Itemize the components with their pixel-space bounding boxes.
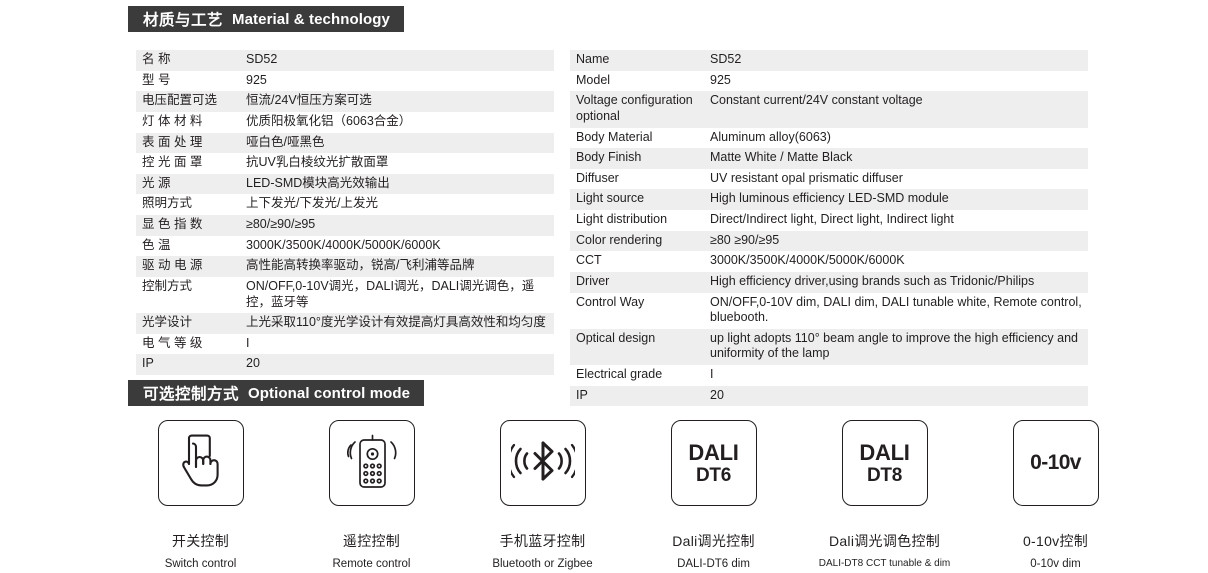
- table-row: 驱 动 电 源 高性能高转换率驱动，锐高/飞利浦等品牌: [136, 256, 554, 277]
- dali-line-1: DALI: [859, 442, 909, 464]
- icon-box: [500, 420, 586, 506]
- spec-value: UV resistant opal prismatic diffuser: [704, 169, 1088, 190]
- dali-dt8-text-icon: DALI DT8: [859, 442, 909, 485]
- spec-value: 925: [240, 71, 554, 92]
- heading-title-en: Material & technology: [232, 11, 390, 28]
- table-row: Light source High luminous efficiency LE…: [570, 189, 1088, 210]
- table-row: Color rendering ≥80 ≥90/≥95: [570, 231, 1088, 252]
- section-heading-material: 材质与工艺 Material & technology: [128, 6, 404, 32]
- spec-value: Matte White / Matte Black: [704, 148, 1088, 169]
- heading-title-cn: 材质与工艺: [143, 8, 223, 30]
- section-heading-control-mode: 可选控制方式 Optional control mode: [128, 380, 424, 406]
- spec-key: 名 称: [136, 50, 240, 71]
- spec-value: I: [704, 365, 1088, 386]
- spec-value: 高性能高转换率驱动，锐高/飞利浦等品牌: [240, 256, 554, 277]
- control-mode-label-cn: 开关控制: [172, 531, 229, 551]
- spec-key: Name: [570, 50, 704, 71]
- spec-key: Body Material: [570, 128, 704, 149]
- spec-key: 型 号: [136, 71, 240, 92]
- spec-key: IP: [136, 354, 240, 375]
- dali-line-1: DALI: [688, 442, 738, 464]
- spec-key: 电 气 等 级: [136, 334, 240, 355]
- table-row: Model 925: [570, 71, 1088, 92]
- spec-key: 表 面 处 理: [136, 133, 240, 154]
- spec-value: High luminous efficiency LED-SMD module: [704, 189, 1088, 210]
- spec-key: 控制方式: [136, 277, 240, 313]
- hand-touch-icon: [177, 434, 225, 493]
- table-row: 表 面 处 理 哑白色/哑黑色: [136, 133, 554, 154]
- heading-body: 可选控制方式 Optional control mode: [133, 380, 424, 406]
- spec-value: 20: [240, 354, 554, 375]
- table-row: 控 光 面 罩 抗UV乳白棱纹光扩散面罩: [136, 153, 554, 174]
- spec-key: 电压配置可选: [136, 91, 240, 112]
- dali-dt6-text-icon: DALI DT6: [688, 442, 738, 485]
- table-row: Driver High efficiency driver,using bran…: [570, 272, 1088, 293]
- dali-line-2: DT8: [859, 466, 909, 485]
- spec-value: I: [240, 334, 554, 355]
- table-row: CCT 3000K/3500K/4000K/5000K/6000K: [570, 251, 1088, 272]
- spec-key: 色 温: [136, 236, 240, 257]
- table-row: 光学设计 上光采取110°度光学设计有效提高灯具高效性和均匀度: [136, 313, 554, 334]
- control-mode-label-cn: 手机蓝牙控制: [500, 531, 586, 551]
- spec-key: 显 色 指 数: [136, 215, 240, 236]
- control-mode-label-cn: 遥控控制: [343, 531, 400, 551]
- spec-value: ≥80/≥90/≥95: [240, 215, 554, 236]
- spec-value: 哑白色/哑黑色: [240, 133, 554, 154]
- control-mode-label-en: 0-10v dim: [1030, 558, 1081, 570]
- control-mode-dali-dt8: DALI DT8 Dali调光调色控制 DALI-DT8 CCT tunable…: [812, 420, 957, 570]
- control-mode-label-en: DALI-DT6 dim: [677, 558, 750, 570]
- table-row: Voltage configuration optional Constant …: [570, 91, 1088, 127]
- spec-key: 光学设计: [136, 313, 240, 334]
- table-row: 控制方式 ON/OFF,0-10V调光，DALI调光，DALI调光调色，遥控，蓝…: [136, 277, 554, 313]
- spec-key: Voltage configuration optional: [570, 91, 704, 127]
- spec-value: Direct/Indirect light, Direct light, Ind…: [704, 210, 1088, 231]
- spec-value: SD52: [240, 50, 554, 71]
- spec-value: 3000K/3500K/4000K/5000K/6000K: [240, 236, 554, 257]
- zero-to-ten-volt-text-icon: 0-10v: [1030, 451, 1081, 475]
- icon-box: DALI DT6: [671, 420, 757, 506]
- spec-value: Constant current/24V constant voltage: [704, 91, 1088, 127]
- table-row: Body Material Aluminum alloy(6063): [570, 128, 1088, 149]
- control-mode-bluetooth: 手机蓝牙控制 Bluetooth or Zigbee: [470, 420, 615, 570]
- heading-body: 材质与工艺 Material & technology: [133, 6, 404, 32]
- spec-key: Diffuser: [570, 169, 704, 190]
- spec-value: ON/OFF,0-10V调光，DALI调光，DALI调光调色，遥控，蓝牙等: [240, 277, 554, 313]
- spec-key: Light distribution: [570, 210, 704, 231]
- control-mode-dali-dt6: DALI DT6 Dali调光控制 DALI-DT6 dim: [641, 420, 786, 570]
- control-mode-label-cn: 0-10v控制: [1023, 531, 1088, 551]
- table-row: 照明方式 上下发光/下发光/上发光: [136, 194, 554, 215]
- spec-value: 抗UV乳白棱纹光扩散面罩: [240, 153, 554, 174]
- table-row: Body Finish Matte White / Matte Black: [570, 148, 1088, 169]
- spec-key: Optical design: [570, 329, 704, 365]
- table-row: 光 源 LED-SMD模块高光效输出: [136, 174, 554, 195]
- spec-value: High efficiency driver,using brands such…: [704, 272, 1088, 293]
- spec-value: ON/OFF,0-10V dim, DALI dim, DALI tunable…: [704, 293, 1088, 329]
- control-mode-label-en: Bluetooth or Zigbee: [492, 558, 592, 570]
- spec-key: Light source: [570, 189, 704, 210]
- table-row: Control Way ON/OFF,0-10V dim, DALI dim, …: [570, 293, 1088, 329]
- table-row: IP 20: [570, 386, 1088, 407]
- table-row: Name SD52: [570, 50, 1088, 71]
- table-row: Light distribution Direct/Indirect light…: [570, 210, 1088, 231]
- spec-key: 灯 体 材 料: [136, 112, 240, 133]
- table-row: 名 称 SD52: [136, 50, 554, 71]
- table-row: 电 气 等 级 I: [136, 334, 554, 355]
- bluetooth-wireless-icon: [511, 438, 575, 489]
- spec-key: IP: [570, 386, 704, 407]
- control-mode-label-cn: Dali调光控制: [672, 531, 755, 551]
- control-mode-label-en: Switch control: [165, 558, 237, 570]
- spec-value: 上光采取110°度光学设计有效提高灯具高效性和均匀度: [240, 313, 554, 334]
- dali-line-2: DT6: [688, 466, 738, 485]
- table-row: 显 色 指 数 ≥80/≥90/≥95: [136, 215, 554, 236]
- spec-key: Model: [570, 71, 704, 92]
- spec-table-cn: 名 称 SD52 型 号 925 电压配置可选 恒流/24V恒压方案可选 灯 体…: [136, 50, 554, 375]
- table-row: 灯 体 材 料 优质阳极氧化铝（6063合金）: [136, 112, 554, 133]
- spec-key: 光 源: [136, 174, 240, 195]
- table-row: 电压配置可选 恒流/24V恒压方案可选: [136, 91, 554, 112]
- remote-control-icon: [346, 433, 398, 494]
- spec-key: Color rendering: [570, 231, 704, 252]
- spec-value: 恒流/24V恒压方案可选: [240, 91, 554, 112]
- heading-title-cn: 可选控制方式: [143, 382, 239, 404]
- table-row: 型 号 925: [136, 71, 554, 92]
- spec-value: SD52: [704, 50, 1088, 71]
- spec-value: 上下发光/下发光/上发光: [240, 194, 554, 215]
- spec-value: 3000K/3500K/4000K/5000K/6000K: [704, 251, 1088, 272]
- spec-value: Aluminum alloy(6063): [704, 128, 1088, 149]
- table-row: 色 温 3000K/3500K/4000K/5000K/6000K: [136, 236, 554, 257]
- icon-box: 0-10v: [1013, 420, 1099, 506]
- spec-value: 20: [704, 386, 1088, 407]
- spec-key: Control Way: [570, 293, 704, 329]
- table-row: IP 20: [136, 354, 554, 375]
- spec-table-en: Name SD52 Model 925 Voltage configuratio…: [570, 50, 1088, 406]
- control-mode-remote: 遥控控制 Remote control: [299, 420, 444, 570]
- spec-key: 照明方式: [136, 194, 240, 215]
- spec-value: 925: [704, 71, 1088, 92]
- spec-key: 控 光 面 罩: [136, 153, 240, 174]
- icon-box: DALI DT8: [842, 420, 928, 506]
- spec-key: Body Finish: [570, 148, 704, 169]
- spec-value: 优质阳极氧化铝（6063合金）: [240, 112, 554, 133]
- spec-value: up light adopts 110° beam angle to impro…: [704, 329, 1088, 365]
- table-row: Electrical grade I: [570, 365, 1088, 386]
- control-mode-switch: 开关控制 Switch control: [128, 420, 273, 570]
- icon-box: [158, 420, 244, 506]
- table-row: Diffuser UV resistant opal prismatic dif…: [570, 169, 1088, 190]
- control-mode-0-10v: 0-10v 0-10v控制 0-10v dim: [983, 420, 1128, 570]
- control-mode-label-cn: Dali调光调色控制: [829, 531, 940, 551]
- heading-title-en: Optional control mode: [248, 385, 410, 402]
- icon-box: [329, 420, 415, 506]
- spec-key: 驱 动 电 源: [136, 256, 240, 277]
- table-row: Optical design up light adopts 110° beam…: [570, 329, 1088, 365]
- control-mode-label-en: Remote control: [333, 558, 411, 570]
- spec-key: Electrical grade: [570, 365, 704, 386]
- spec-value: LED-SMD模块高光效输出: [240, 174, 554, 195]
- spec-key: CCT: [570, 251, 704, 272]
- spec-value: ≥80 ≥90/≥95: [704, 231, 1088, 252]
- control-mode-label-en: DALI-DT8 CCT tunable & dim: [819, 558, 951, 569]
- spec-key: Driver: [570, 272, 704, 293]
- control-mode-list: 开关控制 Switch control: [128, 420, 1128, 570]
